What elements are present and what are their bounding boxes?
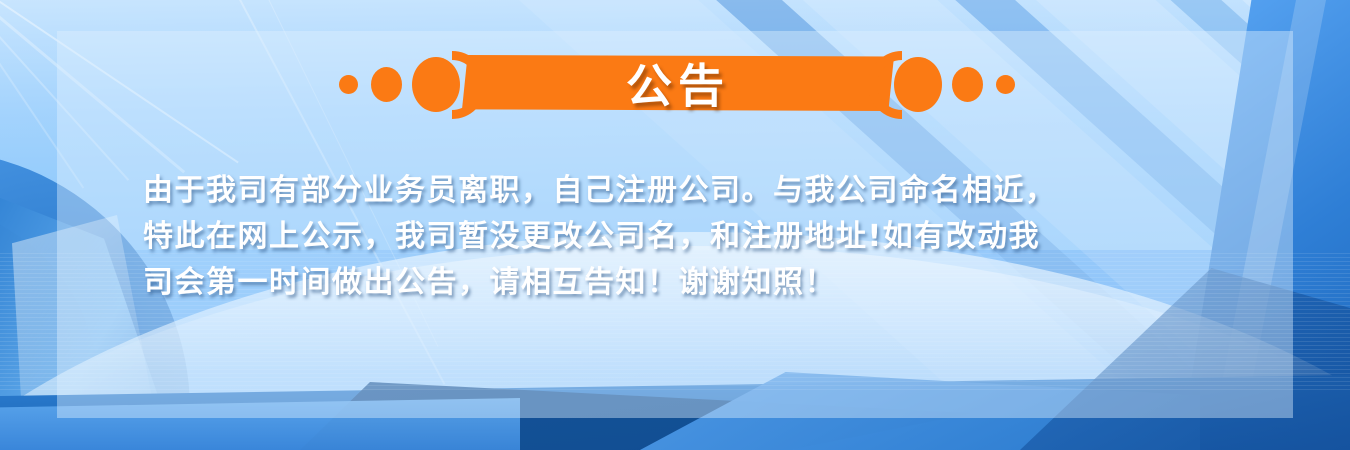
left-swirl-inner [0, 205, 100, 450]
small-dot-left-icon [339, 75, 358, 94]
left-blade-light [12, 215, 162, 450]
page-title: 公告 [462, 50, 894, 116]
medium-dot-left-icon [371, 67, 402, 102]
large-dot-right-icon [894, 57, 942, 112]
bottom-ribbon-light [0, 398, 520, 450]
bottom-ribbon-mid [640, 372, 1200, 450]
bottom-ribbon-deep [300, 382, 1000, 450]
bottom-ribbon-dark [0, 375, 1350, 450]
announcement-line: 司会第一时间做出公告，请相互告知！谢谢知照！ [143, 260, 1233, 306]
announcement-body: 由于我司有部分业务员离职，自己注册公司。与我公司命名相近， 特此在网上公示，我司… [143, 168, 1233, 306]
announcement-line: 由于我司有部分业务员离职，自己注册公司。与我公司命名相近， [143, 168, 1233, 214]
small-dot-right-icon [996, 75, 1015, 94]
announcement-banner: 公告 由于我司有部分业务员离职，自己注册公司。与我公司命名相近， 特此在网上公示… [0, 0, 1350, 450]
header: 公告 [0, 48, 1350, 118]
medium-dot-right-icon [952, 67, 983, 102]
announcement-line: 特此在网上公示，我司暂没更改公司名，和注册地址!如有改动我 [143, 214, 1233, 260]
